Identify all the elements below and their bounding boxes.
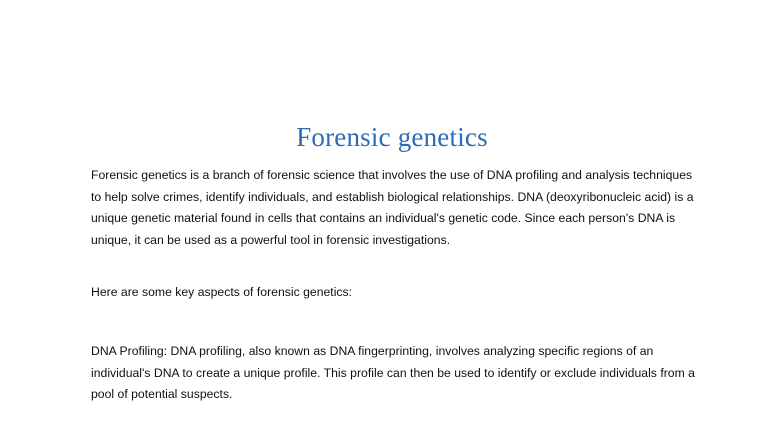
paragraph-key-aspects-lead: Here are some key aspects of forensic ge… — [91, 282, 697, 304]
paragraph-key-aspects-lead-text: Here are some key aspects of forensic ge… — [91, 282, 697, 304]
page-title: Forensic genetics — [0, 121, 784, 153]
paragraph-intro: Forensic genetics is a branch of forensi… — [91, 165, 697, 251]
document-page: Forensic genetics Forensic genetics is a… — [0, 0, 784, 441]
paragraph-dna-profiling-text: DNA Profiling: DNA profiling, also known… — [91, 341, 697, 406]
paragraph-intro-text: Forensic genetics is a branch of forensi… — [91, 165, 697, 251]
paragraph-dna-profiling: DNA Profiling: DNA profiling, also known… — [91, 341, 697, 406]
